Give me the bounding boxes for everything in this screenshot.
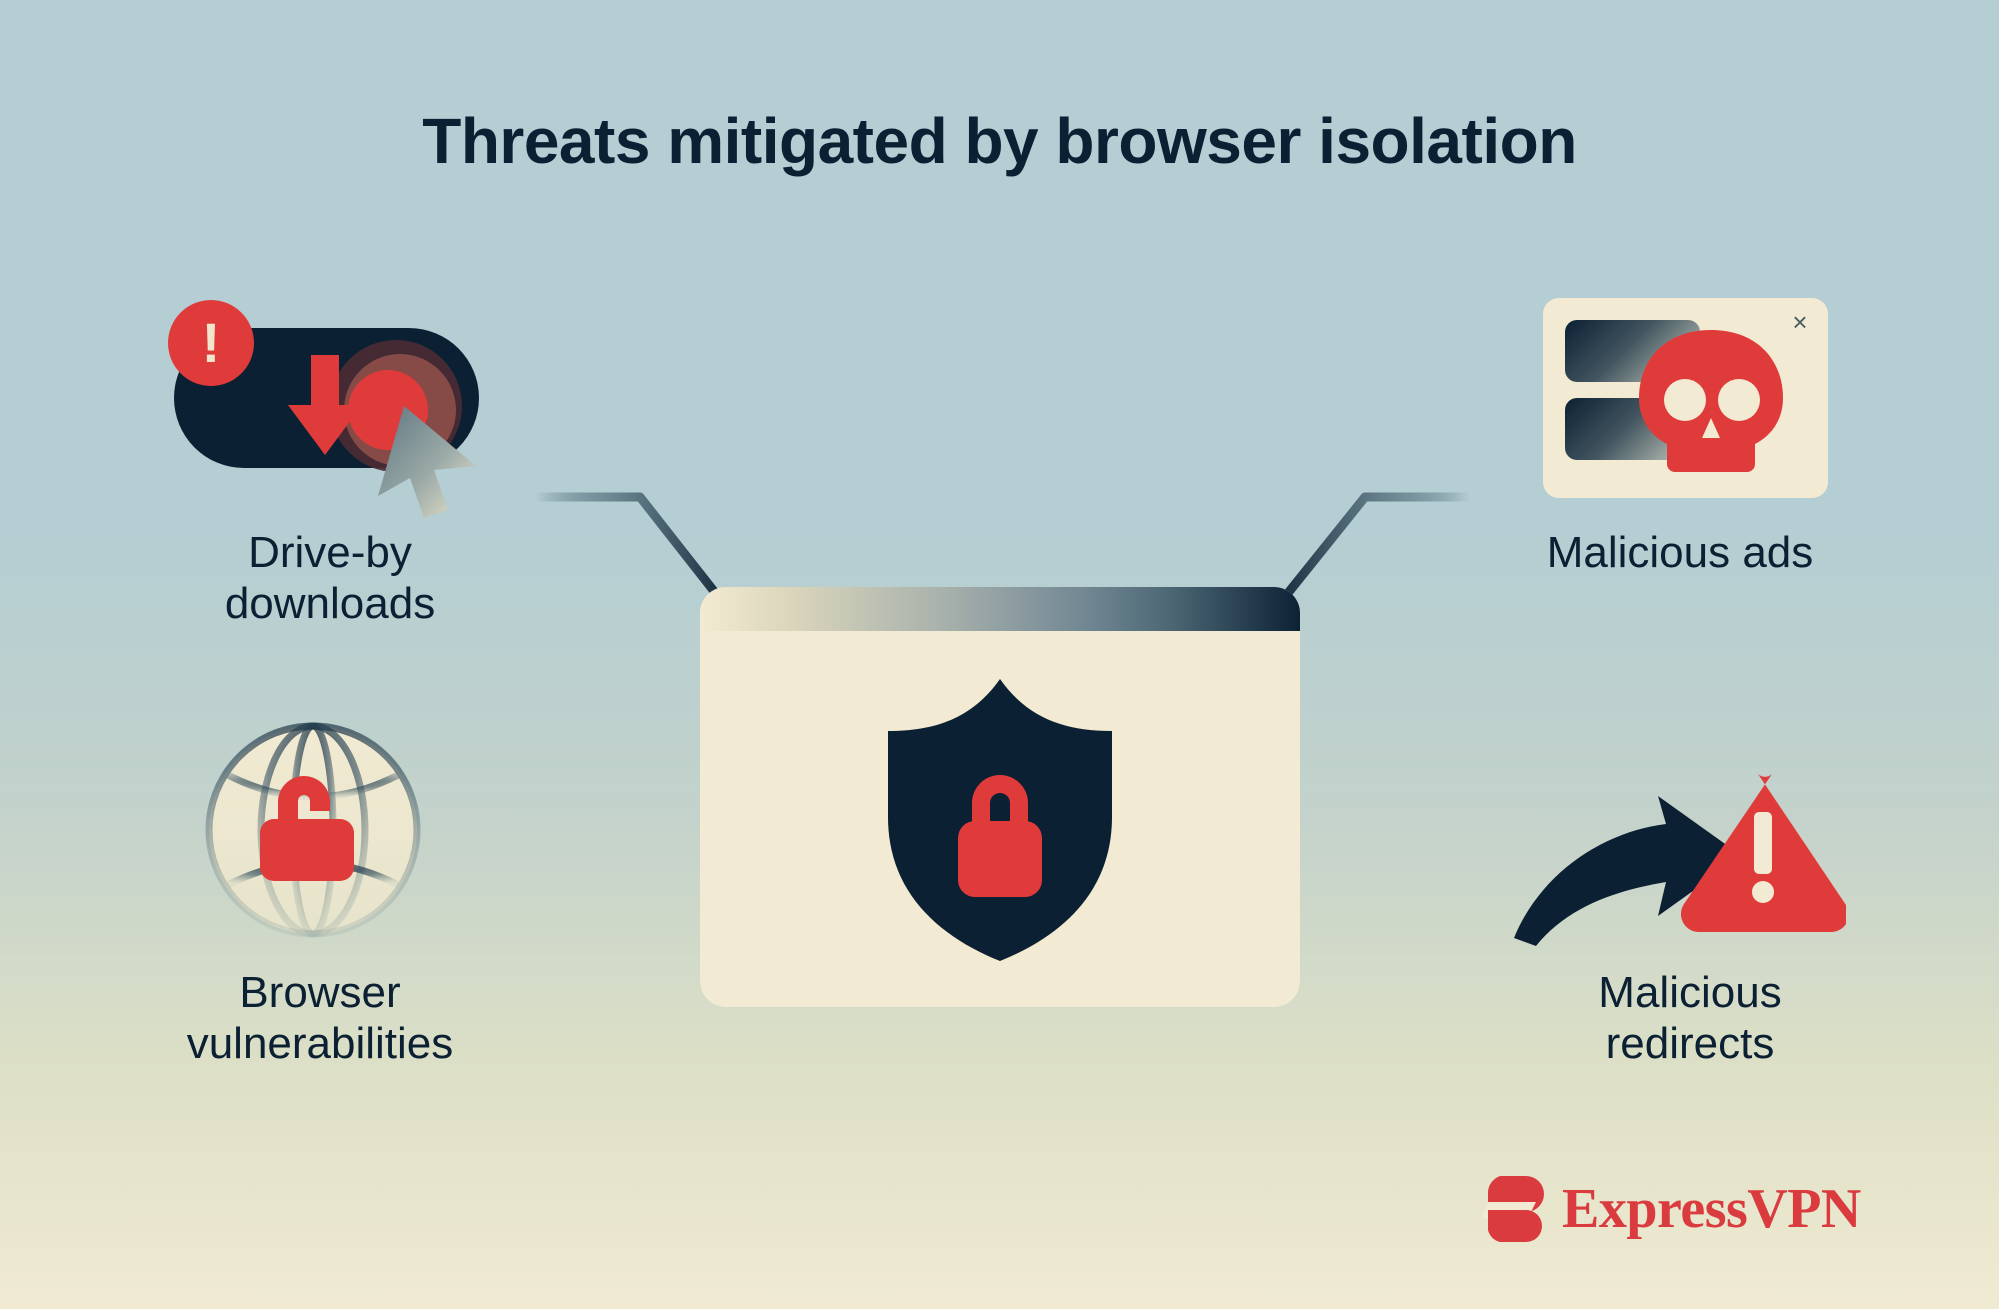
popup-skull-icon: × — [1543, 298, 1828, 498]
expressvpn-logo-mark — [1480, 1172, 1548, 1246]
globe-unlocked-icon — [198, 715, 428, 945]
page-title: Threats mitigated by browser isolation — [0, 106, 1999, 176]
label-drive-by-downloads: Drive-by downloads — [130, 528, 530, 629]
download-arrow-icon — [280, 355, 370, 465]
label-browser-vulnerabilities: Browser vulnerabilities — [100, 968, 540, 1069]
shield-lock-icon — [880, 675, 1120, 970]
curved-arrow-warning-icon — [1506, 770, 1846, 950]
infographic-canvas: Threats mitigated by browser isolation — [0, 0, 1999, 1309]
expressvpn-logo[interactable]: ExpressVPN — [1480, 1172, 1861, 1246]
close-icon[interactable]: × — [1788, 310, 1812, 334]
label-malicious-redirects: Malicious redirects — [1490, 968, 1890, 1069]
expressvpn-logo-text: ExpressVPN — [1562, 1181, 1861, 1237]
alert-badge-icon: ! — [168, 300, 254, 386]
skull-icon — [1631, 326, 1791, 476]
window-titlebar — [700, 587, 1300, 631]
drive-by-downloads-icon: ! — [168, 300, 488, 470]
exclamation-glyph: ! — [202, 315, 221, 371]
label-malicious-ads: Malicious ads — [1500, 528, 1860, 579]
browser-isolation-window — [700, 587, 1300, 1007]
unlocked-padlock-icon — [248, 763, 378, 893]
